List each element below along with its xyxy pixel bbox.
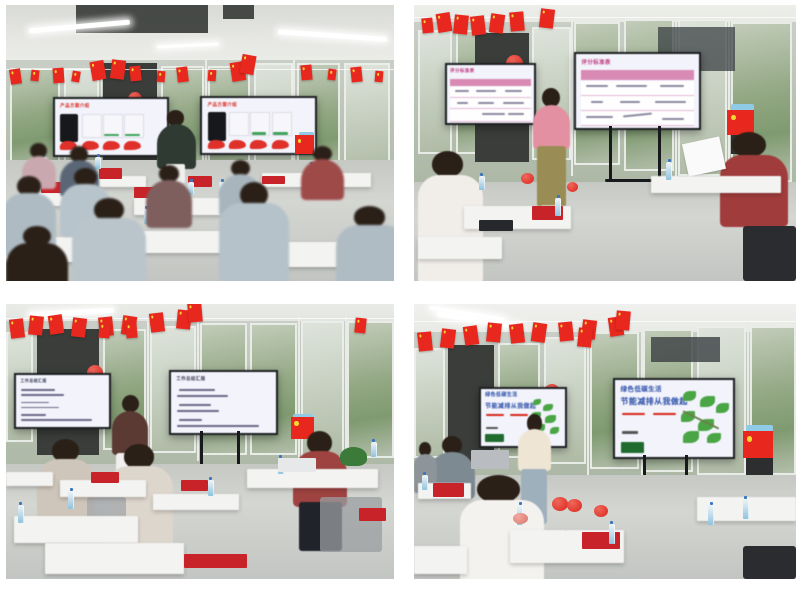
desk	[6, 472, 53, 486]
photo-bottom-left[interactable]: 工作总结汇报 工作总结汇报	[6, 304, 394, 579]
attendee	[6, 226, 68, 281]
slide-accent-bar	[485, 434, 503, 442]
slide-accent-bar	[621, 442, 645, 453]
product-graphic	[250, 140, 268, 149]
table-row	[450, 87, 531, 98]
wall-display-left[interactable]: 工作总结汇报	[14, 373, 111, 429]
flag-bunting	[6, 312, 394, 352]
table-row	[450, 109, 531, 122]
wall-display-right[interactable]: 绿色低碳生活 节能减排从我做起	[613, 378, 735, 459]
potted-plant	[340, 447, 367, 466]
slide-bullet	[177, 410, 219, 412]
slide-subtitle: 节能减排从我做起	[621, 396, 688, 407]
photo-top-right[interactable]: 评分标准表 评分标准表	[414, 5, 796, 281]
red-balloon	[567, 182, 578, 192]
slide-title: 工作总结汇报	[20, 378, 46, 384]
water-bottle	[68, 491, 74, 509]
desk	[418, 237, 502, 259]
leaf-illustration	[707, 433, 721, 444]
table-header	[581, 70, 693, 80]
product-graphic	[207, 140, 225, 149]
product-graphic	[102, 141, 120, 150]
attendee	[72, 198, 146, 281]
water-bottle	[743, 499, 749, 519]
desk	[153, 494, 238, 511]
name-card	[433, 483, 464, 497]
device	[479, 220, 513, 231]
slide-title: 绿色低碳生活	[621, 383, 662, 393]
table-row	[581, 96, 693, 111]
leaf-illustration	[683, 391, 696, 401]
attendee	[336, 206, 394, 281]
photo-bottom-right[interactable]: 绿色低碳生活 节能减排从我做起 绿色低碳生活	[414, 304, 796, 579]
desk	[45, 543, 185, 573]
product-graphic	[124, 141, 142, 150]
name-card	[184, 554, 246, 568]
chair	[320, 497, 382, 552]
photo-top-left[interactable]: 产品方案介绍 产品方案介绍	[6, 5, 394, 281]
leaf-illustration	[700, 396, 715, 408]
presenter	[532, 88, 570, 218]
wall-display-left[interactable]: 评分标准表	[445, 63, 537, 125]
water-bottle	[371, 442, 377, 457]
slide-bullet	[21, 419, 92, 421]
red-balloon	[594, 505, 608, 517]
name-card	[91, 472, 118, 483]
name-card	[181, 480, 208, 491]
name-card	[359, 508, 386, 522]
leaf-illustration	[716, 403, 729, 413]
slide-bullet	[179, 404, 210, 406]
slide-bullet	[21, 414, 45, 416]
table-row	[450, 98, 531, 109]
leaf-illustration	[543, 404, 553, 412]
wall-display-right[interactable]: 工作总结汇报	[169, 370, 278, 435]
slide-bullet	[21, 402, 49, 404]
slide-bullet	[21, 389, 55, 391]
slide-subtitle: 节能减排从我做起	[485, 401, 536, 410]
slide-bullet	[177, 395, 227, 397]
leaf-illustration	[533, 399, 541, 405]
red-balloon	[552, 497, 568, 511]
slide-bullet	[21, 407, 58, 409]
water-bottle	[555, 198, 561, 216]
attendee	[460, 475, 544, 580]
attendee	[146, 165, 193, 226]
slide-bullet	[177, 425, 259, 427]
slide-title: 绿色低碳生活	[485, 391, 517, 398]
table-row	[581, 81, 693, 96]
water-bottle	[708, 505, 714, 525]
flag-bunting	[414, 315, 796, 355]
laptop[interactable]	[471, 450, 509, 469]
wall-flag	[743, 431, 774, 459]
red-balloon	[567, 499, 582, 512]
water-bottle	[18, 505, 24, 523]
slide-title: 产品方案介绍	[60, 103, 89, 109]
desk	[414, 546, 467, 574]
product-graphic	[271, 140, 289, 149]
slide-bullet	[21, 394, 64, 396]
water-bottle	[422, 475, 428, 490]
product-graphic	[229, 140, 247, 149]
slide-bullet	[179, 389, 215, 391]
table-header	[450, 79, 531, 87]
slide-bullet	[179, 419, 202, 421]
water-bottle	[208, 480, 214, 496]
attendee	[301, 146, 344, 198]
flag-bunting	[414, 11, 796, 51]
slide-title: 评分标准表	[450, 68, 475, 74]
wall-display-right[interactable]: 评分标准表	[574, 52, 700, 131]
desk	[247, 469, 379, 488]
water-bottle	[479, 176, 485, 190]
slide-title: 工作总结汇报	[176, 376, 205, 382]
water-bottle	[666, 162, 672, 180]
attendee	[219, 182, 289, 281]
desk	[14, 516, 138, 544]
chair	[743, 546, 796, 579]
device	[278, 458, 317, 472]
slide-title: 产品方案介绍	[208, 102, 237, 108]
photo-collage: 产品方案介绍 产品方案介绍	[0, 0, 800, 593]
leaf-illustration	[683, 431, 698, 443]
chair	[743, 226, 796, 281]
water-bottle	[609, 524, 615, 544]
slide-title: 评分标准表	[581, 58, 611, 66]
